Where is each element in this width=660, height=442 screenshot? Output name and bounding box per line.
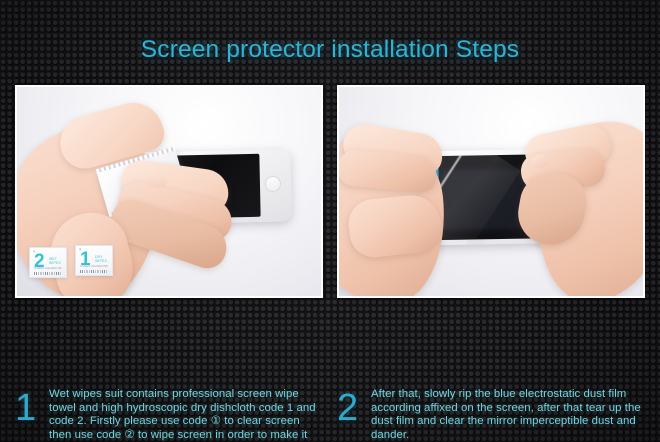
wet-wipe-sachet: ◆ 2 WET WIPES SCREEN CLEANING WET WIPE [29, 247, 67, 278]
step-2-photo [339, 87, 643, 296]
step-panel-1: ◆ 2 WET WIPES SCREEN CLEANING WET WIPE ◆… [15, 85, 323, 298]
step-1-number: 1 [15, 390, 49, 426]
sachet-tag-line2: WIPES [95, 259, 107, 263]
page-title: Screen protector installation Steps [0, 36, 660, 64]
instruction-poster: Screen protector installation Steps [0, 0, 660, 442]
dry-wipe-sachet: ◆ 1 DRY WIPES SCREEN CLEANING DRY WIPE [75, 245, 113, 276]
step-2-caption: 2 After that, slowly rip the blue electr… [337, 388, 645, 442]
sachet-subtitle: SCREEN CLEANING WET WIPE [34, 267, 62, 270]
step-2-text: After that, slowly rip the blue electros… [371, 388, 645, 442]
sachet-tag: WET WIPES [49, 257, 61, 265]
step-1-text: Wet wipes suit contains professional scr… [49, 388, 323, 442]
step-1-caption: 1 Wet wipes suit contains professional s… [15, 388, 323, 442]
step-1-photo-frame: ◆ 2 WET WIPES SCREEN CLEANING WET WIPE ◆… [15, 85, 323, 298]
sachet-subtitle: SCREEN CLEANING DRY WIPE [80, 265, 108, 268]
sachet-perforation [80, 270, 108, 273]
step-2-photo-frame [337, 85, 645, 298]
step-panel-2: 2 After that, slowly rip the blue electr… [337, 85, 645, 298]
step-2-number: 2 [337, 390, 371, 426]
sachet-perforation [34, 272, 62, 275]
sachet-tag: DRY WIPES [95, 255, 107, 263]
sachet-tag-line2: WIPES [49, 261, 61, 265]
phone-home-bar [467, 240, 485, 244]
step-1-photo: ◆ 2 WET WIPES SCREEN CLEANING WET WIPE ◆… [17, 87, 321, 296]
